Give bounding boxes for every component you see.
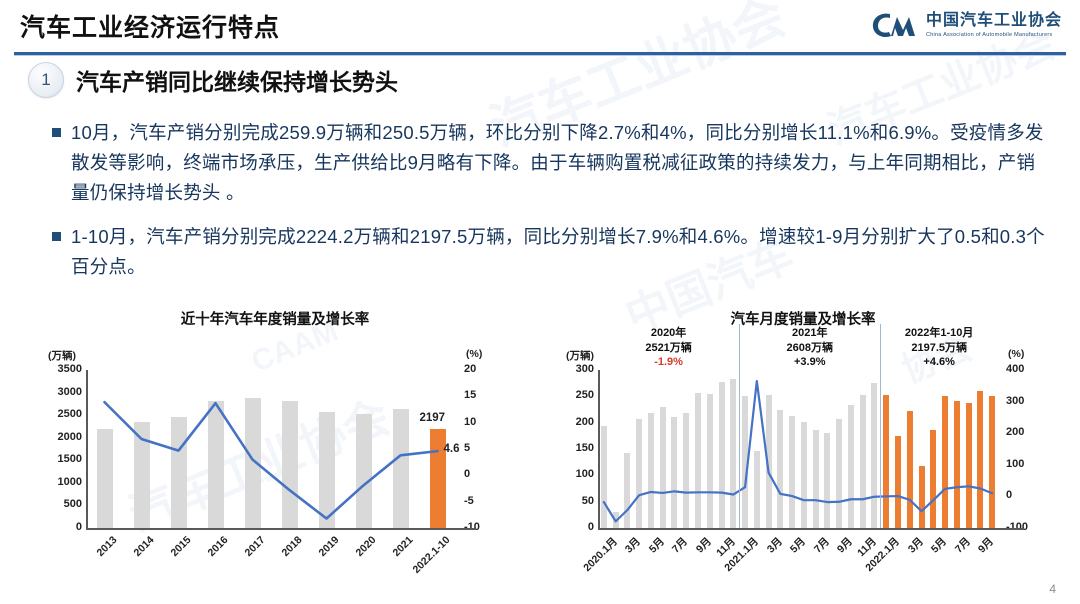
bar <box>660 407 666 528</box>
x-axis-line <box>598 528 1024 530</box>
bar <box>813 430 819 528</box>
y2-axis-tick-label: 15 <box>464 389 498 401</box>
bar <box>97 429 113 528</box>
y-axis-tick-label: 2000 <box>42 431 82 443</box>
group-annotation: 2020年2521万辆-1.9% <box>609 326 729 370</box>
caam-logo: 中国汽车工业协会 China Association of Automobile… <box>870 10 1062 40</box>
logo-title-cn: 中国汽车工业协会 <box>926 12 1062 30</box>
bar <box>742 396 748 528</box>
bar <box>895 436 901 528</box>
bar <box>245 398 261 528</box>
bar <box>860 395 866 528</box>
y2-axis-tick-label: 10 <box>464 416 498 428</box>
y2-axis-tick-label: 5 <box>464 442 498 454</box>
y-axis-tick-label: 50 <box>560 495 594 507</box>
bar <box>719 382 725 528</box>
bar <box>134 422 150 528</box>
page-title: 汽车工业经济运行特点 <box>20 8 280 44</box>
y-axis-tick-label: 1500 <box>42 453 82 465</box>
bar <box>954 401 960 528</box>
bar <box>766 395 772 528</box>
group-separator <box>739 324 740 528</box>
bar <box>648 413 654 528</box>
y-axis-tick-label: 250 <box>560 389 594 401</box>
annual-sales-chart: 近十年汽车年度销量及增长率 05001000150020002500300035… <box>30 308 520 598</box>
bar <box>624 453 630 528</box>
bullet-text: 1-10月，汽车产销分别完成2224.2万辆和2197.5万辆，同比分别增长7.… <box>71 222 1052 282</box>
bar <box>977 391 983 528</box>
page-number: 4 <box>1049 582 1056 596</box>
bar <box>208 401 224 528</box>
plot-area: 050100150200250300-1000100200300400(万辆)(… <box>548 308 1058 598</box>
y2-axis-unit-label: (%) <box>466 348 482 360</box>
y2-axis-tick-label: -10 <box>464 521 498 533</box>
y-axis-tick-label: 3500 <box>42 363 82 375</box>
bar <box>695 393 701 528</box>
bar <box>730 379 736 528</box>
y2-axis-tick-label: 200 <box>1006 426 1046 438</box>
y-axis-line <box>86 370 88 528</box>
bar <box>907 411 913 528</box>
y-axis-tick-label: 200 <box>560 416 594 428</box>
bar <box>836 419 842 528</box>
bar <box>671 417 677 528</box>
y2-axis-tick-label: 20 <box>464 363 498 375</box>
bullet-text: 10月，汽车产销分别完成259.9万辆和250.5万辆，环比分别下降2.7%和4… <box>71 118 1052 208</box>
bar <box>966 403 972 528</box>
y-axis-tick-label: 300 <box>560 363 594 375</box>
y-axis-tick-label: 2500 <box>42 408 82 420</box>
bar-value-label: 2197 <box>420 412 446 424</box>
bar <box>942 396 948 528</box>
bar <box>848 405 854 528</box>
bar <box>789 416 795 528</box>
y2-axis-tick-label: 0 <box>464 468 498 480</box>
bullet-square-icon <box>52 128 61 137</box>
bar <box>930 430 936 528</box>
plot-area: 0500100015002000250030003500-10-50510152… <box>30 308 520 598</box>
bar <box>824 433 830 528</box>
bar <box>801 422 807 528</box>
caam-logo-icon <box>870 10 918 40</box>
y-axis-unit-label: (万辆) <box>566 348 594 363</box>
group-annotation: 2021年2608万辆+3.9% <box>750 326 870 370</box>
y-axis-unit-label: (万辆) <box>48 348 76 363</box>
y2-axis-tick-label: 100 <box>1006 458 1046 470</box>
logo-title-en: China Association of Automobile Manufact… <box>926 32 1062 38</box>
y2-axis-tick-label: 400 <box>1006 363 1046 375</box>
bullet-list: 10月，汽车产销分别完成259.9万辆和250.5万辆，环比分别下降2.7%和4… <box>52 118 1052 296</box>
x-axis-line <box>86 528 476 530</box>
y-axis-tick-label: 100 <box>560 468 594 480</box>
header-divider <box>14 52 1066 55</box>
bar <box>282 401 298 528</box>
list-item: 10月，汽车产销分别完成259.9万辆和250.5万辆，环比分别下降2.7%和4… <box>52 118 1052 208</box>
group-annotation: 2022年1-10月2197.5万辆+4.6% <box>879 326 999 370</box>
bar <box>613 512 619 528</box>
bar <box>171 417 187 528</box>
y2-axis-tick-label: 300 <box>1006 395 1046 407</box>
monthly-sales-chart: 汽车月度销量及增长率 050100150200250300-1000100200… <box>548 308 1058 598</box>
y2-axis-tick-label: -5 <box>464 495 498 507</box>
y-axis-line <box>598 370 600 528</box>
y-axis-tick-label: 150 <box>560 442 594 454</box>
bar <box>319 412 335 528</box>
y-axis-tick-label: 1000 <box>42 476 82 488</box>
bar <box>683 413 689 528</box>
logo-text: 中国汽车工业协会 China Association of Automobile… <box>926 12 1062 38</box>
bullet-square-icon <box>52 232 61 241</box>
y2-axis-tick-label: 0 <box>1006 489 1046 501</box>
y-axis-tick-label: 0 <box>42 521 82 533</box>
y-axis-tick-label: 500 <box>42 498 82 510</box>
section-heading: 1 汽车产销同比继续保持增长势头 <box>28 62 398 98</box>
y-axis-tick-label: 3000 <box>42 386 82 398</box>
line-value-label: 4.6 <box>444 443 460 455</box>
slide: 汽车工业协会 汽车工业协会 汽车工业协会 中国汽车 CAAM 协会 汽车工业经济… <box>0 0 1080 604</box>
bar <box>754 451 760 528</box>
section-number-badge: 1 <box>28 62 64 98</box>
bar <box>393 409 409 528</box>
bar <box>919 466 925 528</box>
bar <box>871 383 877 528</box>
bar <box>356 414 372 528</box>
bar <box>777 410 783 529</box>
bar <box>601 426 607 528</box>
list-item: 1-10月，汽车产销分别完成2224.2万辆和2197.5万辆，同比分别增长7.… <box>52 222 1052 282</box>
y2-axis-unit-label: (%) <box>1008 348 1024 360</box>
y-axis-tick-label: 0 <box>560 521 594 533</box>
section-title: 汽车产销同比继续保持增长势头 <box>76 63 398 97</box>
bar <box>707 394 713 528</box>
y2-axis-tick-label: -100 <box>1006 521 1046 533</box>
bar <box>989 396 995 528</box>
bar <box>883 395 889 528</box>
bar <box>636 419 642 528</box>
